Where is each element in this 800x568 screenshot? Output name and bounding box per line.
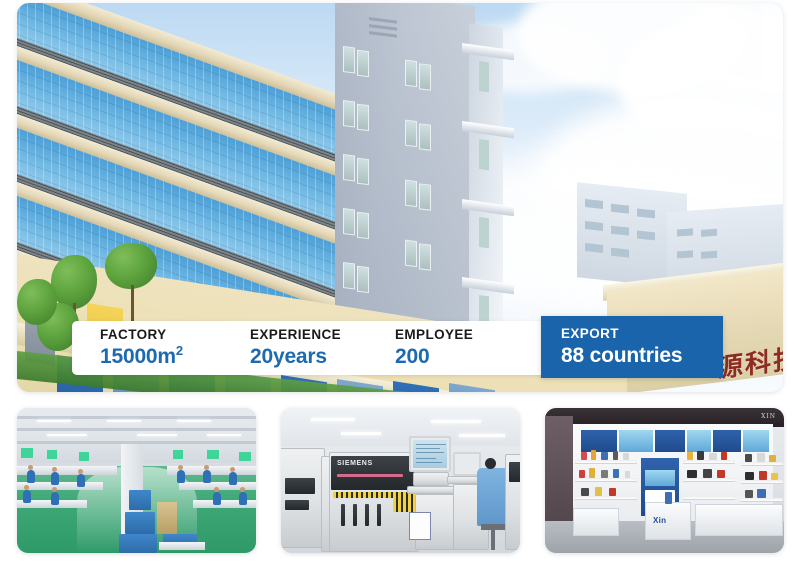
thumbnail-assembly-line[interactable]: [17, 408, 256, 553]
control-monitor: [409, 436, 451, 472]
stat-value-superscript: 2: [176, 343, 183, 358]
stat-value: 200: [395, 344, 511, 369]
thumbnail-exhibition-booth[interactable]: XIN: [545, 408, 784, 553]
stat-export-highlight: EXPORT 88 countries: [541, 316, 723, 378]
stat-value: 20years: [250, 344, 361, 369]
ceiling: [281, 408, 520, 446]
thumbnail-smt-line[interactable]: SIEMENS: [281, 408, 520, 553]
operator-head: [485, 458, 496, 469]
stat-value-text: 15000m: [100, 345, 176, 368]
stat-employee: EMPLOYEE 200: [367, 327, 517, 369]
reception-counter: [645, 502, 691, 540]
booth-logo: Xin: [653, 516, 666, 525]
stat-value: 15000m2: [100, 343, 216, 369]
concrete-tower: [335, 3, 475, 336]
stat-label: FACTORY: [100, 327, 216, 343]
export-label: EXPORT: [561, 326, 723, 342]
stat-experience: EXPERIENCE 20years: [222, 327, 367, 369]
stat-label: EXPERIENCE: [250, 327, 361, 343]
booth-top-sign: XIN: [761, 413, 776, 420]
machine-brand-label: SIEMENS: [337, 460, 373, 467]
stat-label: EMPLOYEE: [395, 327, 511, 343]
stat-factory: FACTORY 15000m2: [72, 327, 222, 370]
page-root: 源科技 FACTORY 15000m2 EXPERIENCE 20years: [0, 0, 800, 568]
export-value: 88 countries: [561, 343, 723, 368]
document-holder: [409, 512, 431, 540]
lower-cabinets: [695, 504, 783, 536]
